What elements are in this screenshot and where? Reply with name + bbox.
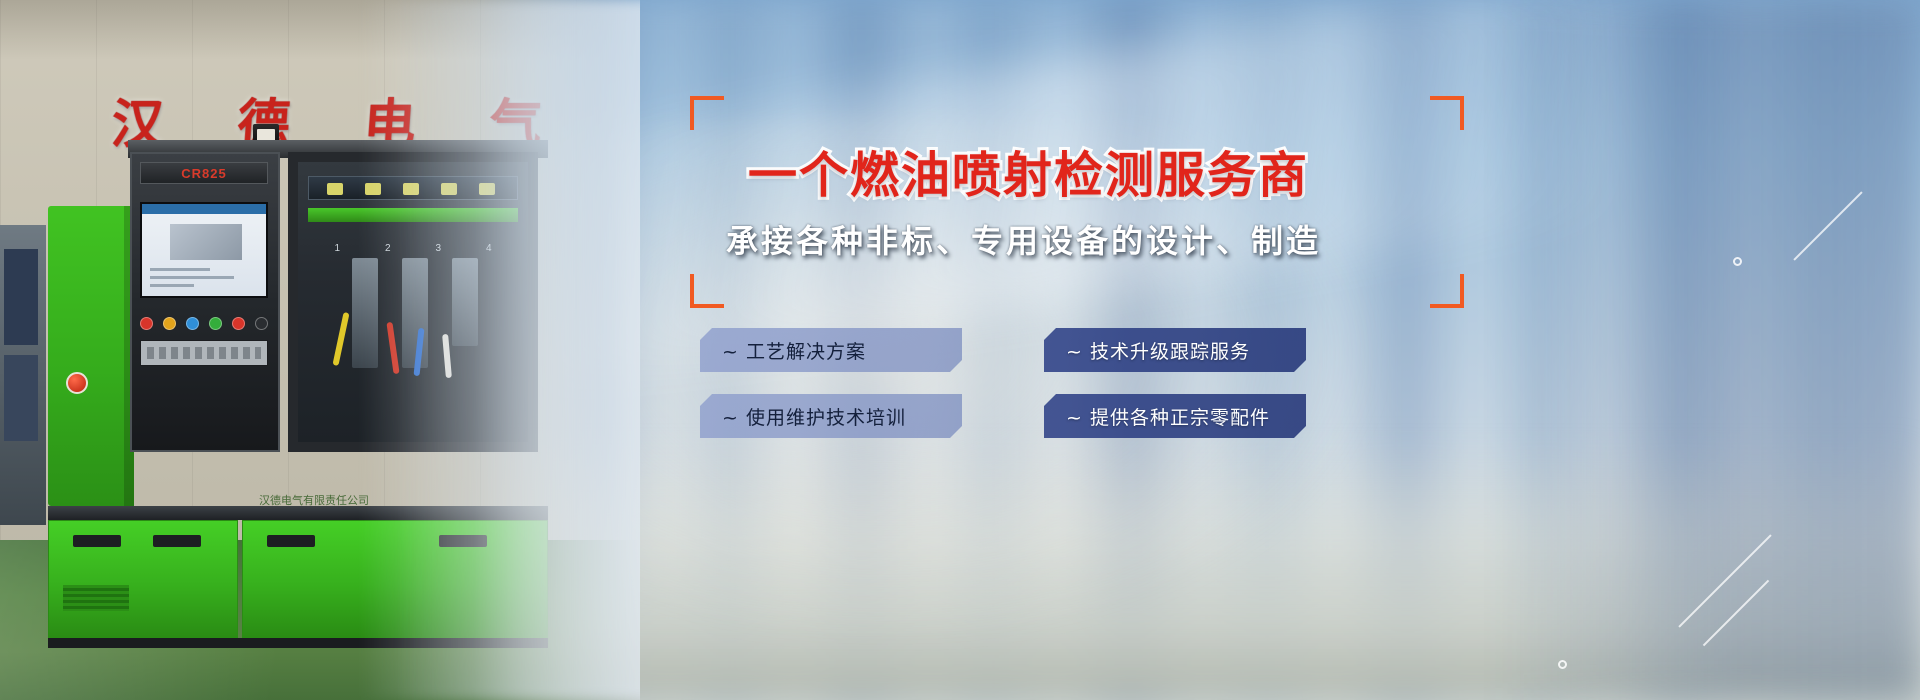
factory-photo: 汉 德 电 气 CR825 [0, 0, 640, 700]
indicator-button-black[interactable] [255, 317, 268, 330]
machine-display-screen [140, 202, 268, 298]
injector-number: 1 [334, 243, 340, 254]
background-cabinet [0, 225, 46, 525]
machine-left-panel [48, 206, 134, 506]
feature-tag-row-2: ~ 使用维护技术培训 ~ 提供各种正宗零配件 [700, 394, 1400, 438]
hose-yellow [332, 312, 349, 366]
background-right-shade [1500, 0, 1920, 700]
hero-banner: 汉 德 电 气 CR825 [0, 0, 1920, 700]
machine-control-panel [130, 152, 280, 452]
bracket-bottom-left-icon [690, 274, 724, 308]
indicator-button-amber[interactable] [163, 317, 176, 330]
screen-text-line [150, 268, 210, 271]
banner-content: 一个燃油喷射检测服务商 承接各种非标、专用设备的设计、制造 ~ 工艺解决方案 ~… [690, 96, 1390, 536]
bracket-top-right-icon [1430, 96, 1464, 130]
machine-button-row[interactable] [140, 314, 268, 332]
cabinet-handle[interactable] [73, 535, 121, 547]
feature-tag-row-1: ~ 工艺解决方案 ~ 技术升级跟踪服务 [700, 328, 1400, 372]
cabinet-handle[interactable] [267, 535, 315, 547]
screen-text-line [150, 284, 194, 287]
feature-tag-list: ~ 工艺解决方案 ~ 技术升级跟踪服务 ~ 使用维护技术培训 ~ 提供各种正宗零… [700, 328, 1400, 460]
cabinet-vent [63, 585, 129, 611]
bracket-top-left-icon [690, 96, 724, 130]
indicator-button-green[interactable] [209, 317, 222, 330]
banner-subheadline: 承接各种非标、专用设备的设计、制造 [726, 216, 1486, 262]
machine-keypad[interactable] [140, 340, 268, 366]
emergency-stop-button[interactable] [66, 372, 88, 394]
cabinet-handle[interactable] [153, 535, 201, 547]
feature-tag-process-solution[interactable]: ~ 工艺解决方案 [700, 328, 962, 372]
feature-tag-genuine-parts[interactable]: ~ 提供各种正宗零配件 [1044, 394, 1306, 438]
screen-titlebar [142, 204, 266, 214]
indicator-button-red-2[interactable] [232, 317, 245, 330]
photo-fade-overlay [360, 0, 640, 700]
feature-tag-upgrade-service[interactable]: ~ 技术升级跟踪服务 [1044, 328, 1306, 372]
screen-image [170, 224, 242, 260]
indicator-button-red[interactable] [140, 317, 153, 330]
feature-tag-maintenance-training[interactable]: ~ 使用维护技术培训 [700, 394, 962, 438]
machine-model-label: CR825 [140, 162, 268, 184]
banner-headline: 一个燃油喷射检测服务商 [748, 136, 1448, 207]
machine-cabinet-left[interactable] [48, 520, 238, 638]
screen-text-line [150, 276, 234, 279]
indicator-button-blue[interactable] [186, 317, 199, 330]
bracket-bottom-right-icon [1430, 274, 1464, 308]
